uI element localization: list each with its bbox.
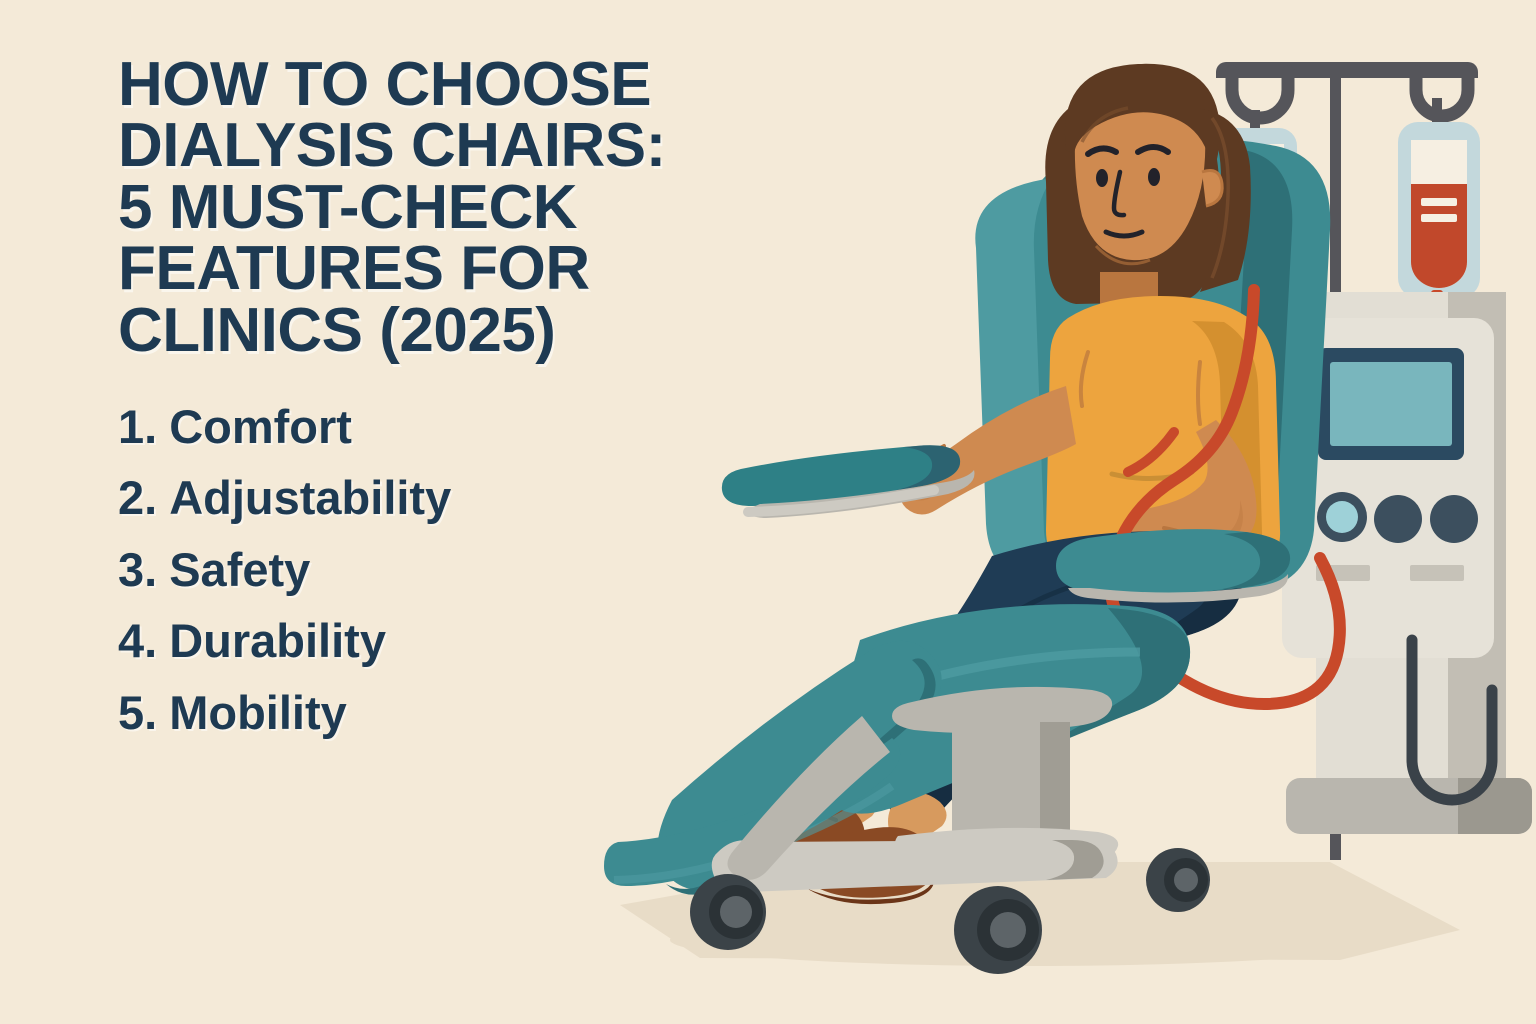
poster-canvas: HOW TO CHOOSE DIALYSIS CHAIRS: 5 MUST-CH… (0, 0, 1536, 1024)
list-item: 5.Mobility (118, 677, 758, 748)
chair-armrest-right-icon (1056, 529, 1290, 602)
list-item-number: 4. (118, 614, 157, 667)
list-item: 4.Durability (118, 605, 758, 676)
list-item-label: Comfort (169, 400, 352, 453)
list-item-number: 3. (118, 543, 157, 596)
text-panel: HOW TO CHOOSE DIALYSIS CHAIRS: 5 MUST-CH… (118, 54, 758, 748)
list-item-label: Adjustability (169, 471, 451, 524)
machine-knobs-icon (1317, 492, 1478, 543)
feature-list: 1.Comfort 2.Adjustability 3.Safety 4.Dur… (118, 391, 758, 748)
list-item: 3.Safety (118, 534, 758, 605)
list-item-number: 5. (118, 686, 157, 739)
machine-screen-icon (1318, 348, 1464, 460)
list-item: 1.Comfort (118, 391, 758, 462)
list-item-label: Durability (169, 614, 386, 667)
list-item-label: Mobility (169, 686, 347, 739)
list-item: 2.Adjustability (118, 462, 758, 533)
page-title: HOW TO CHOOSE DIALYSIS CHAIRS: 5 MUST-CH… (118, 54, 758, 361)
list-item-number: 1. (118, 400, 157, 453)
list-item-number: 2. (118, 471, 157, 524)
list-item-label: Safety (169, 543, 310, 596)
